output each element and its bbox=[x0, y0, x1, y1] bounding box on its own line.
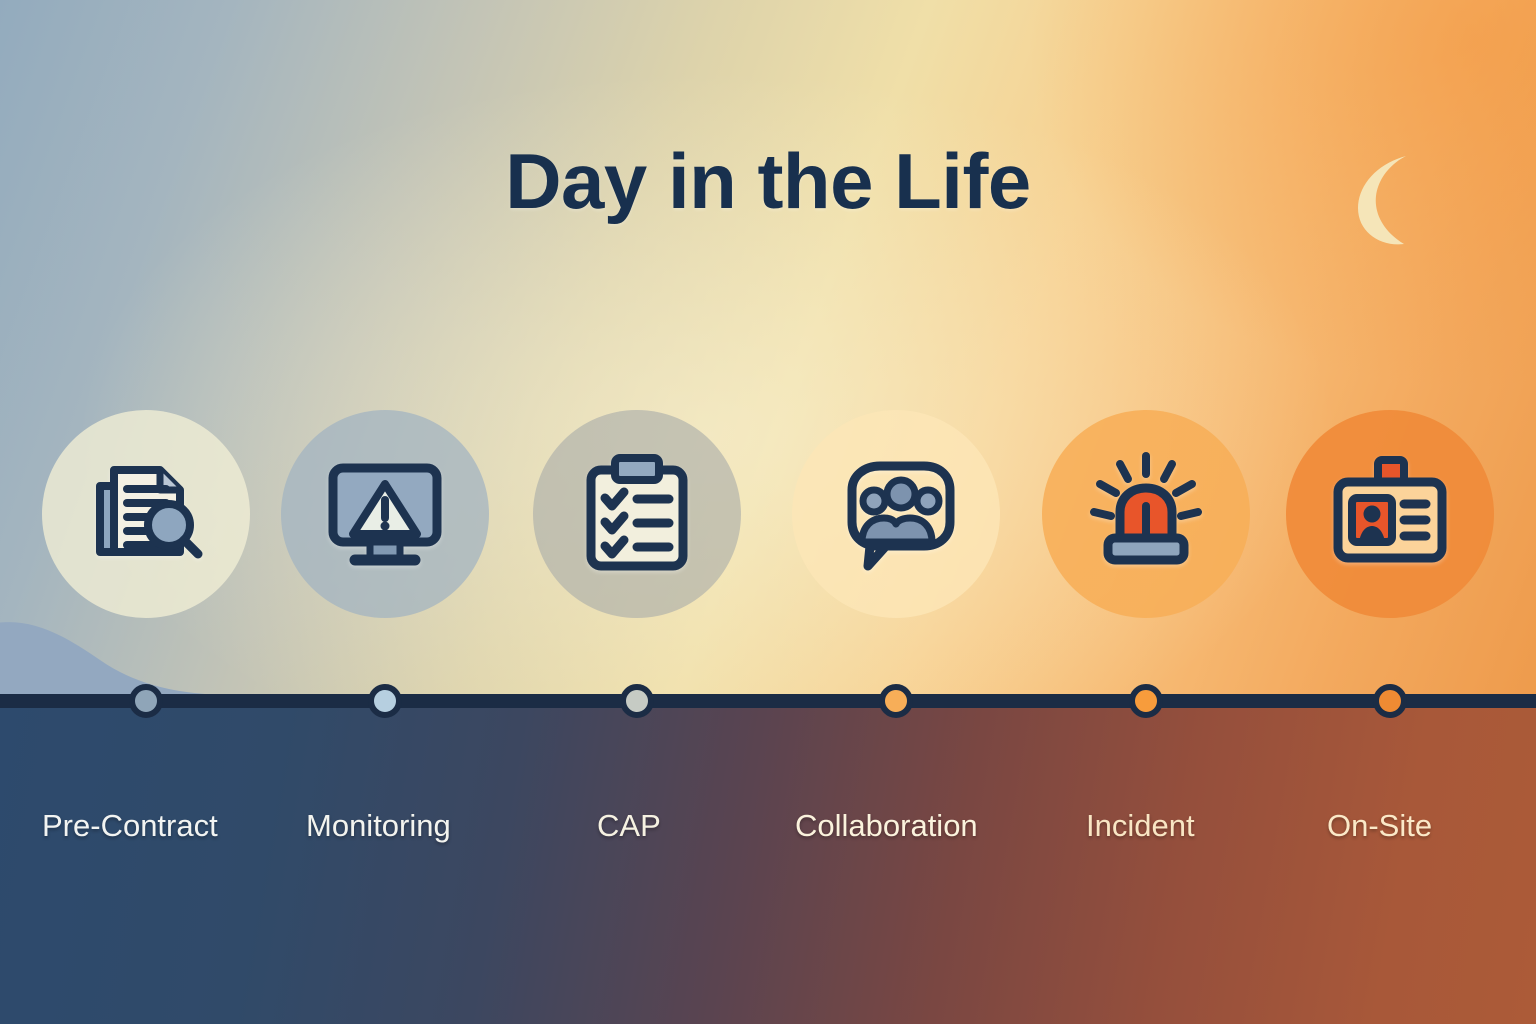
timeline-dot-pre-contract[interactable] bbox=[129, 684, 163, 718]
timeline-dot-monitoring[interactable] bbox=[368, 684, 402, 718]
clipboard-checklist-icon bbox=[569, 446, 705, 582]
page-title: Day in the Life bbox=[0, 136, 1536, 227]
timeline-label-collaboration: Collaboration bbox=[795, 808, 978, 844]
stage-node-monitoring[interactable] bbox=[281, 410, 489, 618]
document-search-icon bbox=[78, 446, 214, 582]
timeline-dot-incident[interactable] bbox=[1129, 684, 1163, 718]
timeline-dot-cap[interactable] bbox=[620, 684, 654, 718]
timeline-dot-on-site[interactable] bbox=[1373, 684, 1407, 718]
stage-node-pre-contract[interactable] bbox=[42, 410, 250, 618]
stage-node-cap[interactable] bbox=[533, 410, 741, 618]
alarm-siren-icon bbox=[1078, 446, 1214, 582]
stage-node-collaboration[interactable] bbox=[792, 410, 1000, 618]
timeline-label-cap: CAP bbox=[597, 808, 661, 844]
timeline-axis bbox=[0, 694, 1536, 708]
id-badge-icon bbox=[1322, 446, 1458, 582]
speech-bubble-people-icon bbox=[828, 446, 964, 582]
timeline-label-incident: Incident bbox=[1086, 808, 1195, 844]
ground-gradient bbox=[0, 702, 1536, 1024]
day-in-the-life-graphic: Day in the Life bbox=[0, 0, 1536, 1024]
stage-icon-row bbox=[0, 410, 1536, 618]
stage-node-on-site[interactable] bbox=[1286, 410, 1494, 618]
stage-node-incident[interactable] bbox=[1042, 410, 1250, 618]
timeline-dot-collaboration[interactable] bbox=[879, 684, 913, 718]
monitor-warning-icon bbox=[317, 446, 453, 582]
timeline-label-on-site: On-Site bbox=[1327, 808, 1432, 844]
timeline-label-pre-contract: Pre-Contract bbox=[42, 808, 218, 844]
timeline-label-monitoring: Monitoring bbox=[306, 808, 451, 844]
